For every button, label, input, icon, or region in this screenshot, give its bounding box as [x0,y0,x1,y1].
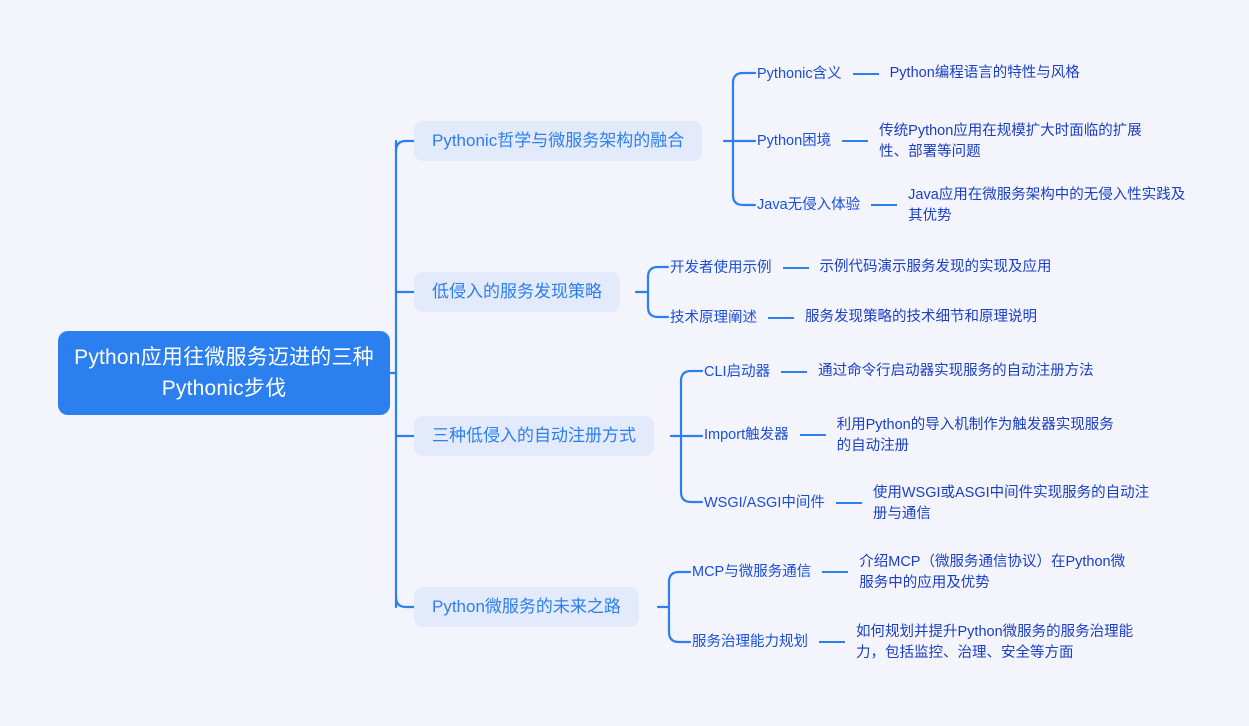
leaf-row[interactable]: 开发者使用示例 示例代码演示服务发现的实现及应用 [670,257,1052,278]
leaf-label: MCP与微服务通信 [692,552,811,582]
leaf-row[interactable]: MCP与微服务通信 介绍MCP（微服务通信协议）在Python微服务中的应用及优… [692,552,1137,594]
mindmap-canvas: Python应用往微服务迈进的三种Pythonic步伐 Pythonic哲学与微… [0,0,1249,726]
leaf-connector-dash [836,502,862,504]
leaf-description: 示例代码演示服务发现的实现及应用 [820,257,1052,278]
leaf-description: 介绍MCP（微服务通信协议）在Python微服务中的应用及优势 [859,552,1137,594]
leaf-connector-dash [822,571,848,573]
leaf-label: 技术原理阐述 [670,308,757,328]
leaf-row[interactable]: CLI启动器 通过命令行启动器实现服务的自动注册方法 [704,361,1094,382]
leaf-connector-dash [853,73,879,75]
leaf-label: Python困境 [757,121,831,151]
leaf-row[interactable]: 技术原理阐述 服务发现策略的技术细节和原理说明 [670,307,1037,328]
leaf-description: 传统Python应用在规模扩大时面临的扩展性、部署等问题 [879,121,1165,163]
leaf-row[interactable]: Import触发器 利用Python的导入机制作为触发器实现服务的自动注册 [704,415,1154,457]
leaf-label: Java无侵入体验 [757,185,860,215]
leaf-row[interactable]: WSGI/ASGI中间件 使用WSGI或ASGI中间件实现服务的自动注册与通信 [704,483,1164,525]
leaf-description: 服务发现策略的技术细节和原理说明 [805,307,1037,328]
root-node[interactable]: Python应用往微服务迈进的三种Pythonic步伐 [58,331,390,415]
leaf-description: Python编程语言的特性与风格 [890,63,1080,84]
leaf-description: 如何规划并提升Python微服务的服务治理能力，包括监控、治理、安全等方面 [856,622,1144,664]
branch-node-4[interactable]: Python微服务的未来之路 [414,587,639,627]
leaf-connector-dash [783,267,809,269]
leaf-row[interactable]: Python困境 传统Python应用在规模扩大时面临的扩展性、部署等问题 [757,121,1177,163]
leaf-description: 利用Python的导入机制作为触发器实现服务的自动注册 [837,415,1127,457]
branch-node-3[interactable]: 三种低侵入的自动注册方式 [414,416,654,456]
leaf-description: 使用WSGI或ASGI中间件实现服务的自动注册与通信 [873,483,1163,525]
leaf-row[interactable]: Java无侵入体验 Java应用在微服务架构中的无侵入性实践及其优势 [757,185,1187,227]
leaf-label: 服务治理能力规划 [692,622,808,652]
leaf-label: CLI启动器 [704,362,770,382]
leaf-row[interactable]: 服务治理能力规划 如何规划并提升Python微服务的服务治理能力，包括监控、治理… [692,622,1147,664]
leaf-row[interactable]: Pythonic含义 Python编程语言的特性与风格 [757,63,1080,84]
leaf-connector-dash [819,641,845,643]
branch-node-3-label: 三种低侵入的自动注册方式 [432,424,636,448]
leaf-connector-dash [842,140,868,142]
root-node-label: Python应用往微服务迈进的三种Pythonic步伐 [72,342,376,404]
leaf-connector-dash [768,317,794,319]
branch-node-2-label: 低侵入的服务发现策略 [432,280,602,304]
leaf-label: Pythonic含义 [757,64,842,84]
leaf-description: Java应用在微服务架构中的无侵入性实践及其优势 [908,185,1187,227]
leaf-label: 开发者使用示例 [670,258,772,278]
branch-node-2[interactable]: 低侵入的服务发现策略 [414,272,620,312]
branch-node-4-label: Python微服务的未来之路 [432,595,621,619]
leaf-connector-dash [781,371,807,373]
leaf-connector-dash [871,204,897,206]
leaf-label: Import触发器 [704,415,789,445]
branch-node-1-label: Pythonic哲学与微服务架构的融合 [432,129,684,153]
leaf-connector-dash [800,434,826,436]
leaf-description: 通过命令行启动器实现服务的自动注册方法 [818,361,1094,382]
branch-node-1[interactable]: Pythonic哲学与微服务架构的融合 [414,121,702,161]
leaf-label: WSGI/ASGI中间件 [704,483,825,513]
